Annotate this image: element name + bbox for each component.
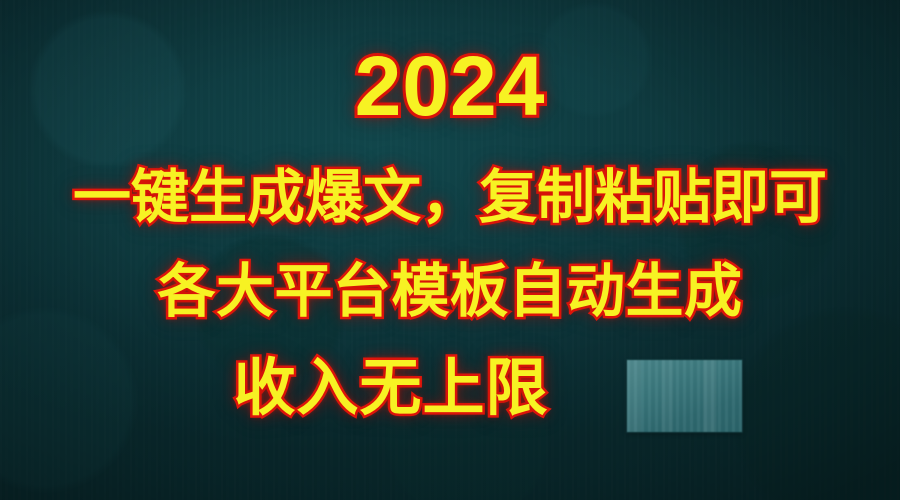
headline-line-unlimited-income: 收入无上限 — [0, 352, 900, 426]
promo-banner: 2024 一键生成爆文，复制粘贴即可 各大平台模板自动生成 收入无上限 — [0, 0, 900, 500]
headline-text-block: 2024 一键生成爆文，复制粘贴即可 各大平台模板自动生成 收入无上限 — [0, 0, 900, 500]
headline-line-platform-templates: 各大平台模板自动生成 — [0, 258, 900, 326]
headline-line-one-click-generate: 一键生成爆文，复制粘贴即可 — [0, 164, 900, 232]
headline-line-year: 2024 — [0, 38, 900, 134]
blurred-redaction-overlay — [627, 360, 742, 432]
